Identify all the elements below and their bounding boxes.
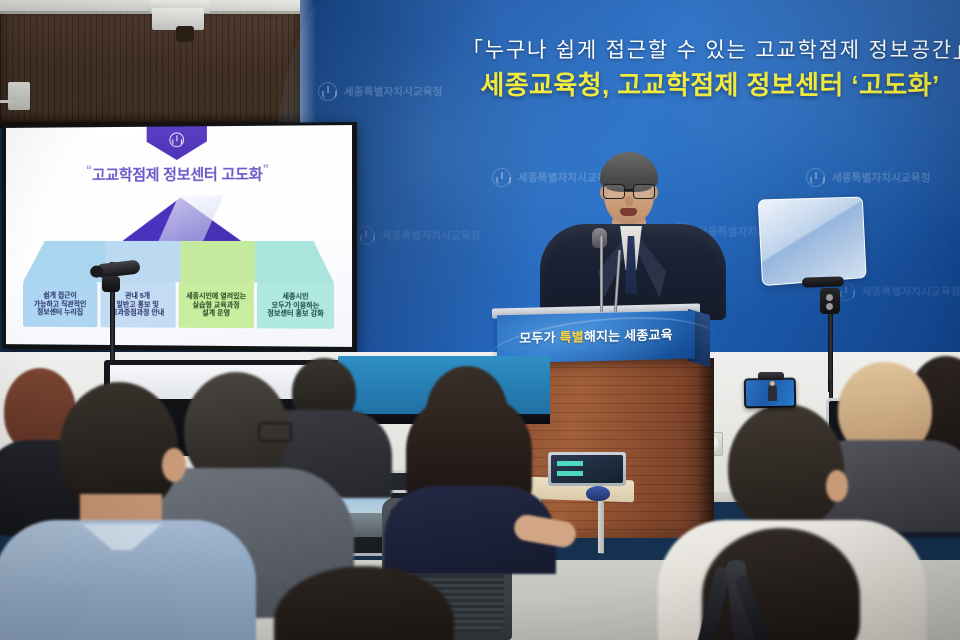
slogan-suffix: 세종교육 (624, 327, 673, 343)
speaker-mouth (620, 208, 637, 216)
slide-house-diagram: 쉽게 접근이 가능하고 직관적인 정보센터 누리집 관내 5개 일반고 홍보 및… (23, 197, 334, 329)
phone-screen-figure (768, 385, 777, 401)
teleprompter-arm (802, 276, 844, 287)
head (274, 566, 454, 640)
speaker-eyebrow-left (608, 180, 624, 183)
watermark-1: 세종특별자치시교육청 (318, 82, 443, 101)
pillar-box-1: 쉽게 접근이 가능하고 직관적인 정보센터 누리집 (23, 282, 97, 327)
watermark-3: 세종특별자치시교육청 (806, 168, 931, 187)
sejong-emblem-icon (318, 82, 337, 101)
watermark-label: 세종특별자치시교육청 (344, 84, 443, 99)
attendee-long-hair-woman (388, 366, 546, 556)
press-briefing-photo: 「누구나 쉽게 접근할 수 있는 고교학점제 정보공간」 세종교육청, 고교학점… (0, 0, 960, 640)
slide-title: “고교학점제 정보센터 고도화” (6, 161, 352, 186)
speaker-figure (540, 138, 726, 318)
podium-microphone-stem (600, 236, 603, 312)
pillar-box-4: 세종시민 모두가 이용하는 정보센터 홍보 강화 (257, 283, 334, 329)
wall-socket-icon (8, 82, 30, 110)
watermark-6: 세종특별자치시교육청 (356, 226, 481, 245)
screen-row (557, 461, 583, 466)
laptop-screen (551, 455, 623, 483)
eaves-band (23, 241, 334, 283)
backdrop-banner: 「누구나 쉽게 접근할 수 있는 고교학점제 정보공간」 세종교육청, 고교학점… (462, 40, 958, 98)
laptop (548, 452, 626, 486)
pillar-box-3: 세종시민에 열려있는 실습형 교육과정 설계 운영 (178, 282, 254, 328)
pillar-2-line-3: 교과중점과정 안내 (111, 309, 164, 318)
camera-tripod (700, 560, 770, 640)
desk-leg (598, 499, 604, 553)
lens-right (633, 184, 655, 199)
ear (826, 470, 848, 502)
banner-headline: 세종교육청, 고교학점제 정보센터 ‘고도화’ (462, 72, 958, 98)
watermark-label: 세종특별자치시교육청 (382, 228, 481, 243)
sejong-emblem-icon (492, 168, 511, 187)
glasses-bridge (625, 189, 633, 191)
eave-3 (181, 241, 257, 283)
watermark-label: 세종특별자치시교육청 (862, 284, 960, 299)
watermark-5: 세종특별자치시교육청 (836, 282, 960, 301)
watermark-label: 세종특별자치시교육청 (832, 170, 931, 185)
sejong-emblem-icon (356, 226, 375, 245)
pillar-3-line-3: 설계 운영 (202, 309, 230, 318)
head (60, 382, 178, 512)
phone-clamp (758, 372, 784, 380)
speaker-eyebrow-right (636, 180, 652, 183)
computer-mouse (586, 486, 610, 501)
slogan-prefix: 모두가 (519, 330, 559, 346)
eave-4 (255, 241, 334, 283)
boom-microphone-joint (102, 276, 120, 292)
sejong-emblem-icon (806, 168, 825, 187)
banner-quote-line: 「누구나 쉽게 접근할 수 있는 고교학점제 정보공간」 (462, 40, 958, 61)
quote-close: ” (263, 162, 269, 177)
pillar-box-row: 쉽게 접근이 가능하고 직관적인 정보센터 누리집 관내 5개 일반고 홍보 및… (23, 282, 334, 329)
sejong-emblem-icon (169, 132, 184, 147)
phone-screen (746, 380, 794, 407)
slide-title-text: 고교학점제 정보센터 고도화 (92, 167, 263, 185)
ceiling-projector-mount (152, 8, 204, 30)
slide-ribbon (147, 125, 207, 160)
slide-surface: “고교학점제 정보센터 고도화” 쉽게 접근이 가능하고 직관적인 정보센터 누 (6, 125, 352, 347)
ear (162, 448, 186, 482)
pillar-1-line-3: 정보센터 누리집 (37, 308, 83, 317)
head (728, 404, 844, 530)
projection-screen: “고교학점제 정보센터 고도화” 쉽게 접근이 가능하고 직관적인 정보센터 누 (2, 122, 357, 352)
attendee-front-left-blue-shirt (16, 382, 228, 640)
wood-paneling-upper-wall (0, 14, 300, 124)
attendee-foreground-left (254, 566, 474, 640)
smartphone-on-tripod (744, 378, 797, 409)
lens-left (603, 184, 625, 199)
screen-row (557, 471, 583, 476)
teleprompter-joint (820, 288, 840, 314)
speaker-nose (625, 196, 633, 206)
pillar-4-line-3: 정보센터 홍보 강화 (267, 310, 323, 319)
teleprompter-panel (758, 197, 867, 287)
eyeglasses-icon (258, 422, 292, 442)
slogan-highlight: 특별 (560, 329, 584, 345)
slogan-middle: 해지는 (584, 328, 624, 344)
